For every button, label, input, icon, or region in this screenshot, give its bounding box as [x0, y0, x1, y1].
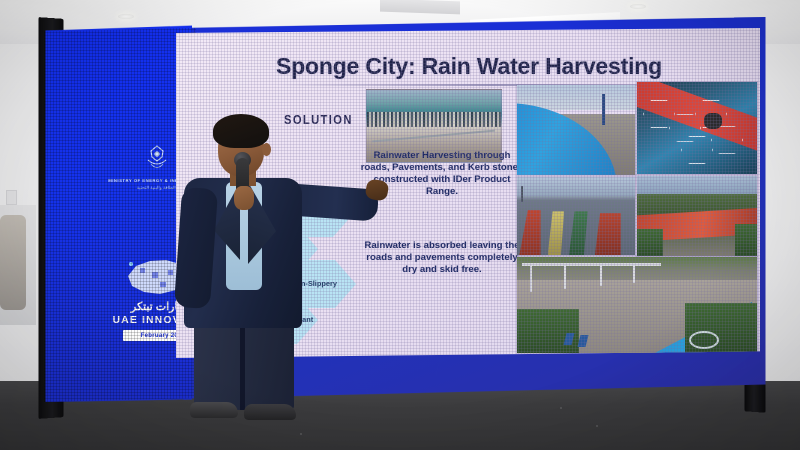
- presentation-scene: MINISTRY OF ENERGY & INFRASTRUCTURE وزار…: [0, 0, 800, 450]
- presenter-hair: [213, 114, 269, 148]
- presenter-left-shoe: [190, 402, 238, 418]
- presenter-ear: [262, 143, 271, 156]
- slide-body-text-2: Rainwater is absorbed leaving the roads …: [362, 240, 522, 276]
- presenter: [178, 112, 374, 412]
- slide-photo-red-hexagon: [636, 81, 758, 175]
- branding-panel: MINISTRY OF ENERGY & INFRASTRUCTURE وزار…: [44, 24, 196, 402]
- ceiling-downlight: [630, 4, 646, 9]
- slide-photo-blue-pavement: [516, 84, 636, 176]
- ministry-crest-icon: [140, 144, 174, 174]
- slide-photo-multicolour-road: [516, 176, 636, 256]
- wall-switch-plate: [6, 190, 17, 205]
- presenter-leg-split: [240, 328, 245, 410]
- slide-photo-red-cycle-track: [636, 175, 758, 257]
- ceiling-downlight: [118, 14, 134, 19]
- presenter-right-shoe: [244, 404, 296, 420]
- slide-photo-blue-cycle-path: [516, 256, 758, 354]
- presenter-hand-holding-microphone: [234, 186, 254, 210]
- slide-title: Sponge City: Rain Water Harvesting: [276, 53, 706, 80]
- background-chair: [0, 215, 26, 310]
